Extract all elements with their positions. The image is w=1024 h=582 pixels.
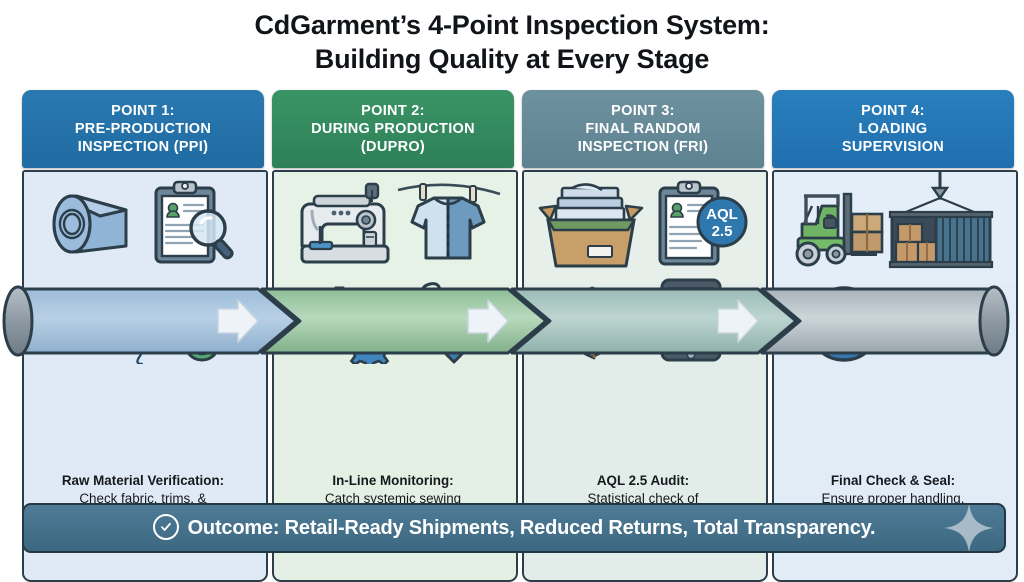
stage-column-point-3[interactable]: POINT 3: FINAL RANDOM INSPECTION (FRI) xyxy=(522,90,764,494)
shirt-on-line-icon xyxy=(396,176,502,272)
check-circle-icon xyxy=(153,514,179,540)
qc-tag-label: QC xyxy=(433,316,469,344)
sealed-badge-label: SEALED xyxy=(913,313,987,333)
title-line-2: Building Quality at Every Stage xyxy=(0,42,1024,76)
fabric-roll-icon xyxy=(40,180,140,268)
forklift-icon xyxy=(788,188,888,272)
point-4-illustration: SEALED xyxy=(772,170,1018,466)
stage-column-point-1[interactable]: POINT 1: PRE-PRODUCTION INSPECTION (PPI) xyxy=(22,90,264,494)
clipboard-magnifier-icon xyxy=(142,178,242,270)
sealed-carton-icon xyxy=(552,280,644,364)
point-4-header-line-2: LOADING xyxy=(842,120,944,138)
point-1-caption-title: Raw Material Verification: xyxy=(22,472,264,490)
thread-spools-icon xyxy=(46,288,150,364)
sealed-badge: SEALED xyxy=(896,302,1004,344)
point-2-header-line-1: POINT 2: xyxy=(311,102,475,120)
open-carton-shirts-icon xyxy=(538,180,648,274)
point-3-illustration: AQL 2.5 xyxy=(522,170,768,466)
outcome-text: Outcome: Retail-Ready Shipments, Reduced… xyxy=(188,517,876,540)
point-1-header-line-1: POINT 1: xyxy=(75,102,211,120)
sparkle-icon xyxy=(942,503,996,553)
stage-columns: POINT 1: PRE-PRODUCTION INSPECTION (PPI) xyxy=(0,90,1024,494)
point-3-header: POINT 3: FINAL RANDOM INSPECTION (FRI) xyxy=(522,90,764,168)
point-4-caption-title: Final Check & Seal: xyxy=(772,472,1014,490)
point-2-header-line-2: DURING PRODUCTION xyxy=(311,120,475,138)
point-3-header-line-2: FINAL RANDOM xyxy=(578,120,708,138)
tablet-checklist-icon xyxy=(654,276,736,364)
aql-badge-line-2: 2.5 xyxy=(712,223,733,240)
stage-column-point-2[interactable]: POINT 2: DURING PRODUCTION (DUPRO) xyxy=(272,90,514,494)
point-1-illustration xyxy=(22,170,268,466)
outcome-banner[interactable]: Outcome: Retail-Ready Shipments, Reduced… xyxy=(22,503,1006,553)
gears-icon xyxy=(302,284,398,364)
point-3-caption-title: AQL 2.5 Audit: xyxy=(522,472,764,490)
sewing-machine-icon xyxy=(294,180,396,270)
infographic-canvas: CdGarment’s 4-Point Inspection System: B… xyxy=(0,0,1024,559)
point-2-header: POINT 2: DURING PRODUCTION (DUPRO) xyxy=(272,90,514,168)
qc-tag-icon: QC xyxy=(400,280,494,364)
point-4-header-line-1: POINT 4: xyxy=(842,102,944,120)
point-1-header-line-2: PRE-PRODUCTION xyxy=(75,120,211,138)
point-2-caption-title: In-Line Monitoring: xyxy=(272,472,514,490)
stage-column-point-4[interactable]: POINT 4: LOADING SUPERVISION xyxy=(772,90,1014,494)
outcome-row: Outcome: Retail-Ready Shipments, Reduced… xyxy=(153,515,876,541)
point-4-header-line-3: SUPERVISION xyxy=(842,138,944,156)
point-3-header-line-3: INSPECTION (FRI) xyxy=(578,138,708,156)
page-title: CdGarment’s 4-Point Inspection System: B… xyxy=(0,8,1024,76)
buttons-icon xyxy=(144,288,240,366)
title-line-1: CdGarment’s 4-Point Inspection System: xyxy=(255,10,770,40)
point-1-header: POINT 1: PRE-PRODUCTION INSPECTION (PPI) xyxy=(22,90,264,168)
lock-icon xyxy=(802,282,886,366)
clipboard-aql-icon: AQL 2.5 xyxy=(646,178,754,274)
point-1-header-line-3: INSPECTION (PPI) xyxy=(75,138,211,156)
point-2-header-line-3: (DUPRO) xyxy=(311,138,475,156)
point-2-illustration: QC xyxy=(272,170,518,466)
shipping-container-crane-icon xyxy=(880,172,1006,274)
aql-badge-line-1: AQL xyxy=(706,206,738,223)
point-4-header: POINT 4: LOADING SUPERVISION xyxy=(772,90,1014,168)
point-3-header-line-1: POINT 3: xyxy=(578,102,708,120)
